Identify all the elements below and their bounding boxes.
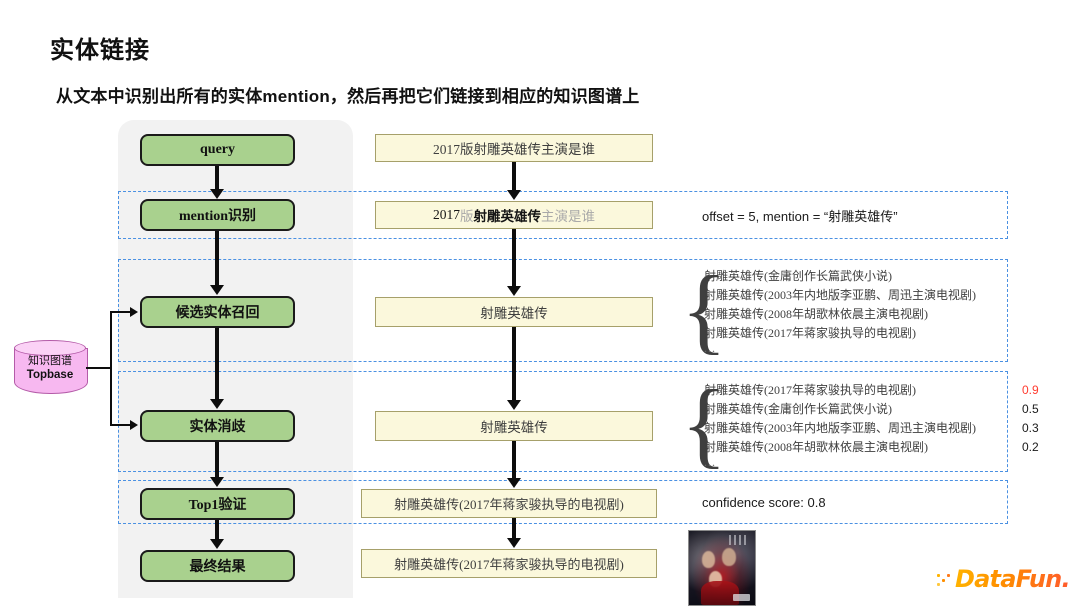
- movie-poster-thumbnail: [688, 530, 756, 606]
- data-box-top1-entity: 射雕英雄传(2017年蒋家骏执导的电视剧): [361, 489, 657, 518]
- poster-cloak: [701, 581, 739, 605]
- knowledge-base-cylinder: 知识图谱 Topbase: [14, 340, 86, 398]
- page-subtitle: 从文本中识别出所有的实体mention，然后再把它们链接到相应的知识图谱上: [56, 82, 640, 107]
- data-arrow-query-to-mention: [512, 162, 516, 191]
- data-arrow-recall-to-disambiguation: [512, 327, 516, 401]
- mention-token-2: 射雕英雄传: [474, 205, 542, 225]
- mention-token-3: 主演是谁: [541, 205, 595, 225]
- data-arrow-top1-to-final: [512, 518, 516, 539]
- list-item: 射雕英雄传(2003年内地版李亚鹏、周迅主演电视剧) 0.3: [704, 419, 976, 438]
- process-box-mention[interactable]: mention识别: [140, 199, 295, 231]
- entity-score: 0.5: [1022, 400, 1039, 419]
- kb-arrowhead-recall: [130, 307, 138, 317]
- process-box-disambiguation[interactable]: 实体消歧: [140, 410, 295, 442]
- annotation-offset-mention: offset = 5, mention = “射雕英雄传”: [702, 206, 898, 225]
- flow-arrow-disambiguation-to-top1: [215, 442, 219, 478]
- candidate-entity-name: 射雕英雄传(2008年胡歌林依晨主演电视剧): [704, 307, 928, 321]
- knowledge-base-label: 知识图谱 Topbase: [14, 354, 86, 382]
- flow-arrow-query-to-mention: [215, 166, 219, 190]
- list-item: 射雕英雄传(2017年蒋家骏执导的电视剧): [704, 324, 976, 343]
- process-box-top1-verification[interactable]: Top1验证: [140, 488, 295, 520]
- list-item: 射雕英雄传(2003年内地版李亚鹏、周迅主演电视剧): [704, 286, 976, 305]
- disambiguated-list-ellipsis: ...: [704, 455, 716, 470]
- data-box-recall-mention: 射雕英雄传: [375, 297, 653, 327]
- poster-figure: [702, 551, 715, 568]
- candidate-entity-name: 射雕英雄传(2017年蒋家骏执导的电视剧): [704, 326, 916, 340]
- kb-connector-vertical: [110, 312, 112, 426]
- poster-badge: [733, 594, 750, 601]
- candidate-entity-name: 射雕英雄传(2003年内地版李亚鹏、周迅主演电视剧): [704, 288, 976, 302]
- entity-score: 0.9: [1022, 381, 1039, 400]
- data-box-query: 2017版射雕英雄传主演是谁: [375, 134, 653, 162]
- kb-connector-to-recall: [110, 311, 132, 313]
- process-box-recall[interactable]: 候选实体召回: [140, 296, 295, 328]
- list-item: 射雕英雄传(金庸创作长篇武侠小说): [704, 267, 976, 286]
- process-box-final-result[interactable]: 最终结果: [140, 550, 295, 582]
- datafun-logo: DataFun.: [936, 566, 1070, 592]
- poster-title-glyph: [729, 535, 749, 545]
- list-item: 射雕英雄传(2008年胡歌林依晨主演电视剧) 0.2: [704, 438, 976, 457]
- logo-wordmark: DataFun.: [955, 565, 1070, 593]
- disambiguated-entity-name: 射雕英雄传(2003年内地版李亚鹏、周迅主演电视剧): [704, 421, 976, 435]
- page-title: 实体链接: [50, 30, 150, 65]
- entity-score: 0.2: [1022, 438, 1039, 457]
- logo-dots-icon: [936, 571, 953, 588]
- list-item: 射雕英雄传(2008年胡歌林依晨主演电视剧): [704, 305, 976, 324]
- process-box-query[interactable]: query: [140, 134, 295, 166]
- data-box-mention-tagged: 2017版射雕英雄传主演是谁: [375, 201, 653, 229]
- data-box-disambiguation-mention: 射雕英雄传: [375, 411, 653, 441]
- annotation-confidence-score: confidence score: 0.8: [702, 495, 826, 510]
- kb-connector-to-disambiguation: [110, 424, 132, 426]
- disambiguated-entity-list: 射雕英雄传(2017年蒋家骏执导的电视剧) 0.9 射雕英雄传(金庸创作长篇武侠…: [704, 381, 976, 457]
- slide-canvas: 实体链接 从文本中识别出所有的实体mention，然后再把它们链接到相应的知识图…: [0, 0, 1080, 608]
- disambiguated-entity-name: 射雕英雄传(金庸创作长篇武侠小说): [704, 402, 892, 416]
- candidate-entity-list: 射雕英雄传(金庸创作长篇武侠小说) 射雕英雄传(2003年内地版李亚鹏、周迅主演…: [704, 267, 976, 343]
- flow-arrow-mention-to-recall: [215, 231, 219, 286]
- knowledge-base-label-en: Topbase: [14, 368, 86, 382]
- entity-score: 0.3: [1022, 419, 1039, 438]
- mention-token-1: 版: [460, 205, 474, 225]
- kb-arrowhead-disambiguation: [130, 420, 138, 430]
- knowledge-base-label-cn: 知识图谱: [28, 355, 72, 367]
- kb-connector-stub: [86, 367, 112, 369]
- data-box-final-entity: 射雕英雄传(2017年蒋家骏执导的电视剧): [361, 549, 657, 578]
- candidate-list-ellipsis: ...: [704, 341, 716, 356]
- candidate-entity-name: 射雕英雄传(金庸创作长篇武侠小说): [704, 269, 892, 283]
- disambiguated-entity-name: 射雕英雄传(2008年胡歌林依晨主演电视剧): [704, 440, 928, 454]
- disambiguated-entity-name: 射雕英雄传(2017年蒋家骏执导的电视剧): [704, 383, 916, 397]
- flow-arrow-recall-to-disambiguation: [215, 328, 219, 400]
- flow-arrow-top1-to-final: [215, 520, 219, 540]
- poster-figure: [722, 548, 736, 566]
- data-arrow-mention-to-recall: [512, 229, 516, 287]
- list-item: 射雕英雄传(2017年蒋家骏执导的电视剧) 0.9: [704, 381, 976, 400]
- data-arrow-disambiguation-to-top1: [512, 441, 516, 479]
- mention-token-0: 2017: [433, 207, 460, 223]
- list-item: 射雕英雄传(金庸创作长篇武侠小说) 0.5: [704, 400, 976, 419]
